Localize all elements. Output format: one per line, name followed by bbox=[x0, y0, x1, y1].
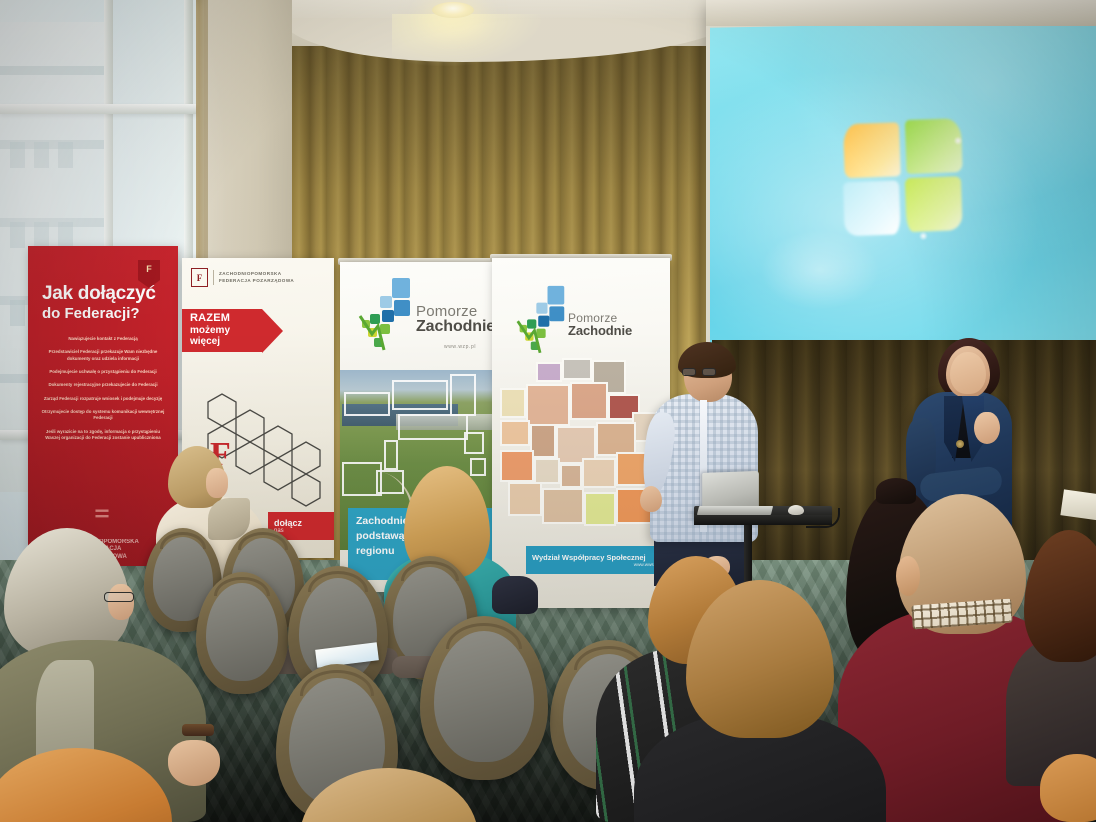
banner-red-jak-dolaczyc[interactable]: F Jak dołączyć do Federacji? Nawiązujeci… bbox=[28, 246, 178, 566]
brooch-icon bbox=[956, 440, 964, 448]
bluebar-label: Wydział Współpracy Społecznej bbox=[532, 553, 668, 563]
list-item: Nawiązujecie kontakt z Federacją bbox=[38, 336, 168, 342]
mouse-icon[interactable] bbox=[788, 505, 804, 515]
ear bbox=[108, 584, 134, 620]
federation-logo-block: F ZACHODNIOPOMORSKA FEDERACJA POZARZĄDOW… bbox=[182, 258, 334, 287]
slogan-line-2: możemy bbox=[190, 325, 260, 336]
federation-symbol-icon: ⚌ bbox=[94, 502, 111, 522]
ceiling-light-glow bbox=[392, 14, 542, 66]
slogan-arrow: RAZEM możemy więcej bbox=[182, 309, 262, 352]
ceiling-spotlight-icon bbox=[432, 2, 474, 18]
hand-gesturing bbox=[640, 486, 662, 512]
hand bbox=[168, 740, 220, 786]
windows-logo bbox=[843, 118, 975, 246]
face bbox=[206, 468, 228, 498]
hand-at-chin bbox=[974, 412, 1000, 444]
pomorze-brand: Pomorze Zachodnie bbox=[416, 304, 495, 335]
people-collage-photo bbox=[500, 366, 662, 542]
laptop-keyboard[interactable] bbox=[697, 506, 773, 515]
logo-letter: F bbox=[197, 273, 203, 283]
list-item: Zarząd Federacji rozpatruje wniosek i po… bbox=[38, 396, 168, 402]
crest-letter: F bbox=[146, 264, 152, 274]
banner-url[interactable]: www.wzp.pl bbox=[444, 344, 476, 350]
face bbox=[950, 352, 986, 394]
hair-top bbox=[876, 478, 916, 504]
pomorze-zachodnie-logo-icon bbox=[354, 276, 416, 362]
lap-dark bbox=[492, 576, 538, 614]
list-item: Otrzymujecie dostęp do systemu komunikac… bbox=[38, 409, 168, 422]
federation-f-icon: F bbox=[191, 268, 208, 287]
chair[interactable] bbox=[196, 572, 288, 694]
banner-bluebar-wydzial: Wydział Współpracy Społecznej www.wws.wz… bbox=[526, 546, 670, 574]
wall-pillar bbox=[206, 0, 292, 268]
conference-room-photo: F Jak dołączyć do Federacji? Nawiązujeci… bbox=[0, 0, 1096, 822]
list-item: Jeśli wyrazicie na to zgodę, informacja … bbox=[38, 429, 168, 442]
org-line-2: FEDERACJA POZARZĄDOWA bbox=[219, 278, 294, 285]
banner-red-headline-2: do Federacji? bbox=[42, 305, 178, 322]
brand-line-2: Zachodnie bbox=[416, 319, 495, 335]
banner-red-steps: Nawiązujecie kontakt z Federacją Przedst… bbox=[38, 336, 168, 442]
brand-line-2: Zachodnie bbox=[568, 324, 632, 337]
av-cart-leg bbox=[744, 524, 752, 586]
ear bbox=[896, 556, 920, 596]
paper-sheet bbox=[1060, 489, 1096, 520]
glasses-icon bbox=[104, 592, 134, 602]
list-item: Dokumenty rejestracyjne przekazujecie do… bbox=[38, 382, 168, 388]
watch-icon bbox=[182, 724, 214, 736]
list-item: Przedstawiciel Federacji przekazuje Wam … bbox=[38, 349, 168, 362]
banner-red-headline-1: Jak dołączyć bbox=[42, 284, 178, 304]
glasses-icon bbox=[682, 368, 718, 376]
bluebar-url: www.wws.wzp.pl bbox=[532, 562, 668, 567]
pomorze-brand: Pomorze Zachodnie bbox=[568, 312, 632, 337]
banner-pomorze-zachodnie-2[interactable]: Pomorze Zachodnie W bbox=[492, 258, 670, 608]
list-item: Podejmujecie uchwałę o przystąpieniu do … bbox=[38, 369, 168, 375]
pomorze-zachodnie-logo-icon bbox=[512, 284, 570, 364]
divider bbox=[213, 270, 214, 285]
federation-name: ZACHODNIOPOMORSKA FEDERACJA POZARZĄDOWA bbox=[219, 271, 294, 285]
org-line-1: ZACHODNIOPOMORSKA bbox=[219, 271, 294, 278]
chair[interactable] bbox=[420, 616, 548, 780]
screen-roller bbox=[706, 0, 1096, 26]
dolacz-label: dołącz bbox=[274, 519, 334, 528]
slogan-line-1: RAZEM bbox=[190, 313, 260, 325]
brand-line-1: Pomorze bbox=[416, 304, 495, 319]
slogan-line-3: więcej bbox=[190, 336, 260, 347]
